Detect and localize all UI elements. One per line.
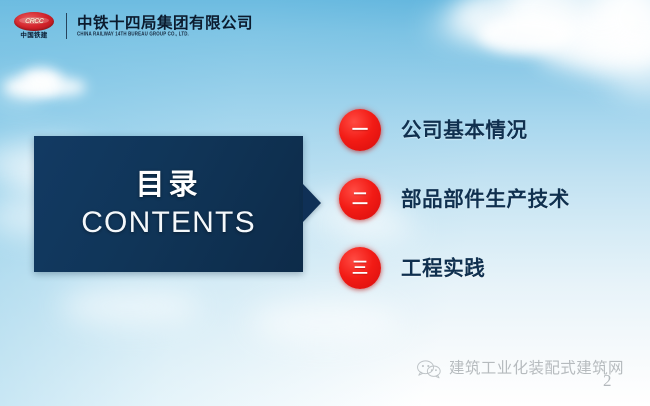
logo-divider [66,13,67,39]
crcc-logo-glyph: CRCC [24,18,44,25]
menu-label-2: 部品部件生产技术 [401,189,570,210]
contents-arrow-icon [303,184,321,222]
logo-caption: 中国铁建 [20,33,47,40]
menu-label-3: 工程实践 [401,258,485,279]
menu-number-badge-icon: 一 [339,109,381,151]
menu-label-1: 公司基本情况 [401,120,528,141]
company-name-block: 中铁十四局集团有限公司 CHINA RAILWAY 14TH BUREAU GR… [77,15,253,37]
menu-item-1[interactable]: 一 公司基本情况 [339,108,570,152]
contents-title-box: 目录 CONTENTS [34,136,303,272]
watermark-text: 建筑工业化装配式建筑网 [449,361,624,377]
slide-canvas: CRCC 中国铁建 中铁十四局集团有限公司 CHINA RAILWAY 14TH… [0,0,650,406]
menu-number-badge-icon: 三 [339,247,381,289]
company-logo: CRCC 中国铁建 [12,12,56,40]
contents-title-cn: 目录 [135,170,201,199]
menu-number-badge-icon: 二 [339,178,381,220]
contents-title-en: CONTENTS [81,208,256,238]
menu-number-3: 三 [352,260,368,276]
wechat-icon [416,358,442,380]
menu-number-1: 一 [352,122,368,138]
menu-item-2[interactable]: 二 部品部件生产技术 [339,177,570,221]
menu-item-3[interactable]: 三 工程实践 [339,246,570,290]
contents-menu-list: 一 公司基本情况 二 部品部件生产技术 三 工程实践 [339,108,570,290]
company-name-cn: 中铁十四局集团有限公司 [77,15,253,31]
menu-number-2: 二 [352,191,368,207]
company-name-en: CHINA RAILWAY 14TH BUREAU GROUP CO., LTD… [77,32,253,37]
company-header: CRCC 中国铁建 中铁十四局集团有限公司 CHINA RAILWAY 14TH… [12,12,253,40]
site-watermark: 建筑工业化装配式建筑网 [416,358,624,380]
page-number: 2 [603,372,612,389]
crcc-oval-logo-icon: CRCC [14,12,54,31]
